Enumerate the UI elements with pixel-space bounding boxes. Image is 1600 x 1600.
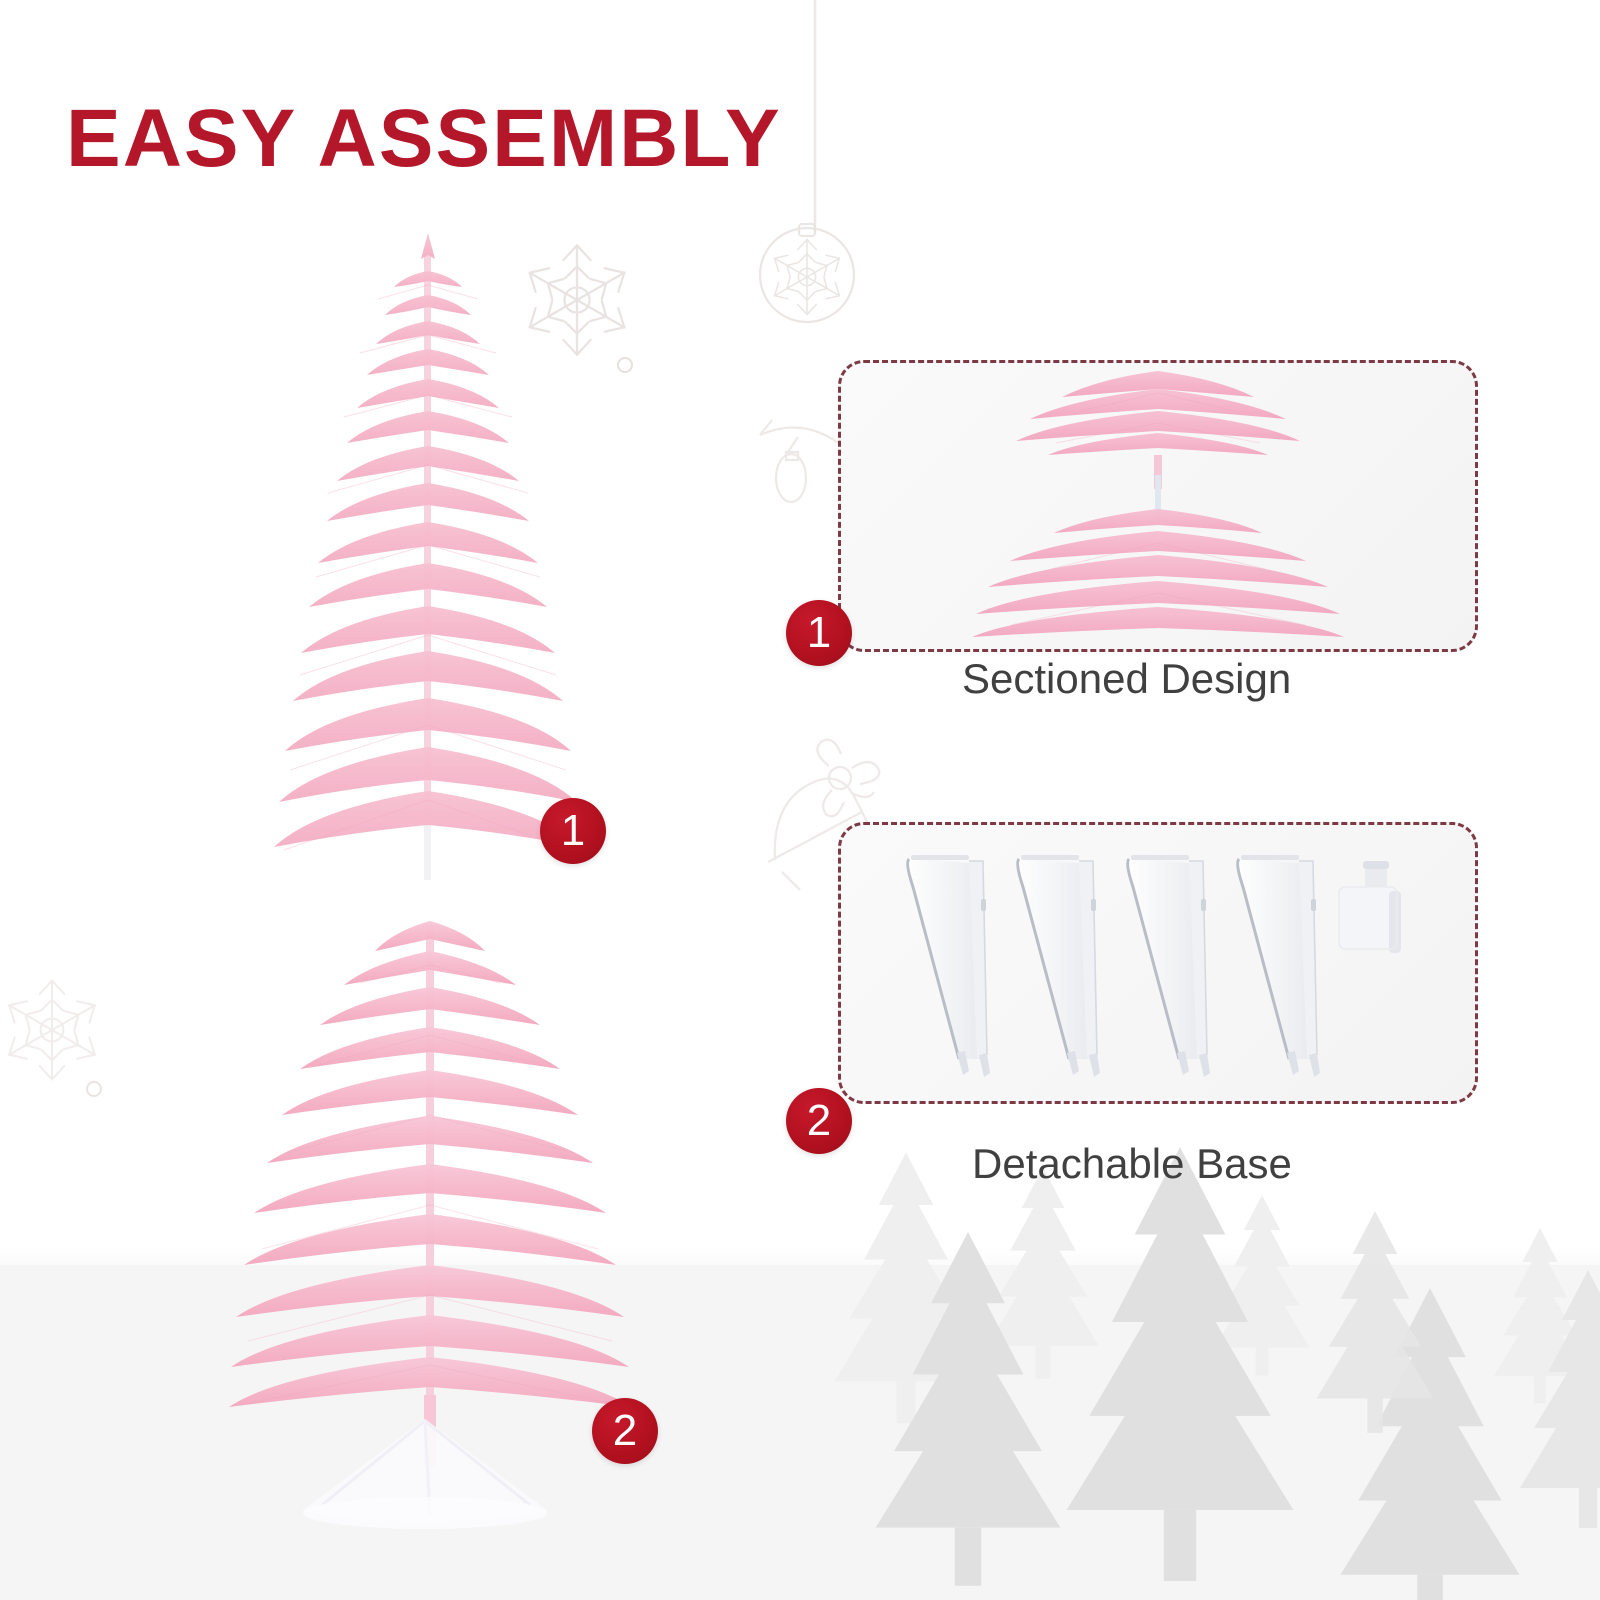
snowflake-ornament-icon (760, 224, 854, 322)
detachable-base-illustration (841, 825, 1475, 1101)
detachable-base-panel (838, 822, 1478, 1104)
page-title: EASY ASSEMBLY (66, 98, 782, 180)
detachable-base-label: Detachable Base (972, 1140, 1292, 1188)
snowflake-icon (3, 981, 101, 1080)
base-hub-piece (1339, 861, 1401, 953)
sectioned-design-label: Sectioned Design (962, 655, 1291, 703)
panel-1-number-badge: 1 (786, 600, 852, 666)
upper-tree-section (228, 225, 628, 885)
sectioned-design-panel (838, 360, 1478, 652)
callout-badge-upper-section: 1 (540, 798, 606, 864)
sectioned-design-illustration (841, 363, 1475, 649)
callout-badge-lower-section: 2 (592, 1398, 658, 1464)
product-feature-image: EASY ASSEMBLY (0, 0, 1600, 1600)
tree-stand-base (290, 1415, 560, 1535)
panel-2-number-badge: 2 (786, 1088, 852, 1154)
lower-tree-section (190, 905, 670, 1485)
snow-dot-icon (87, 1082, 101, 1096)
